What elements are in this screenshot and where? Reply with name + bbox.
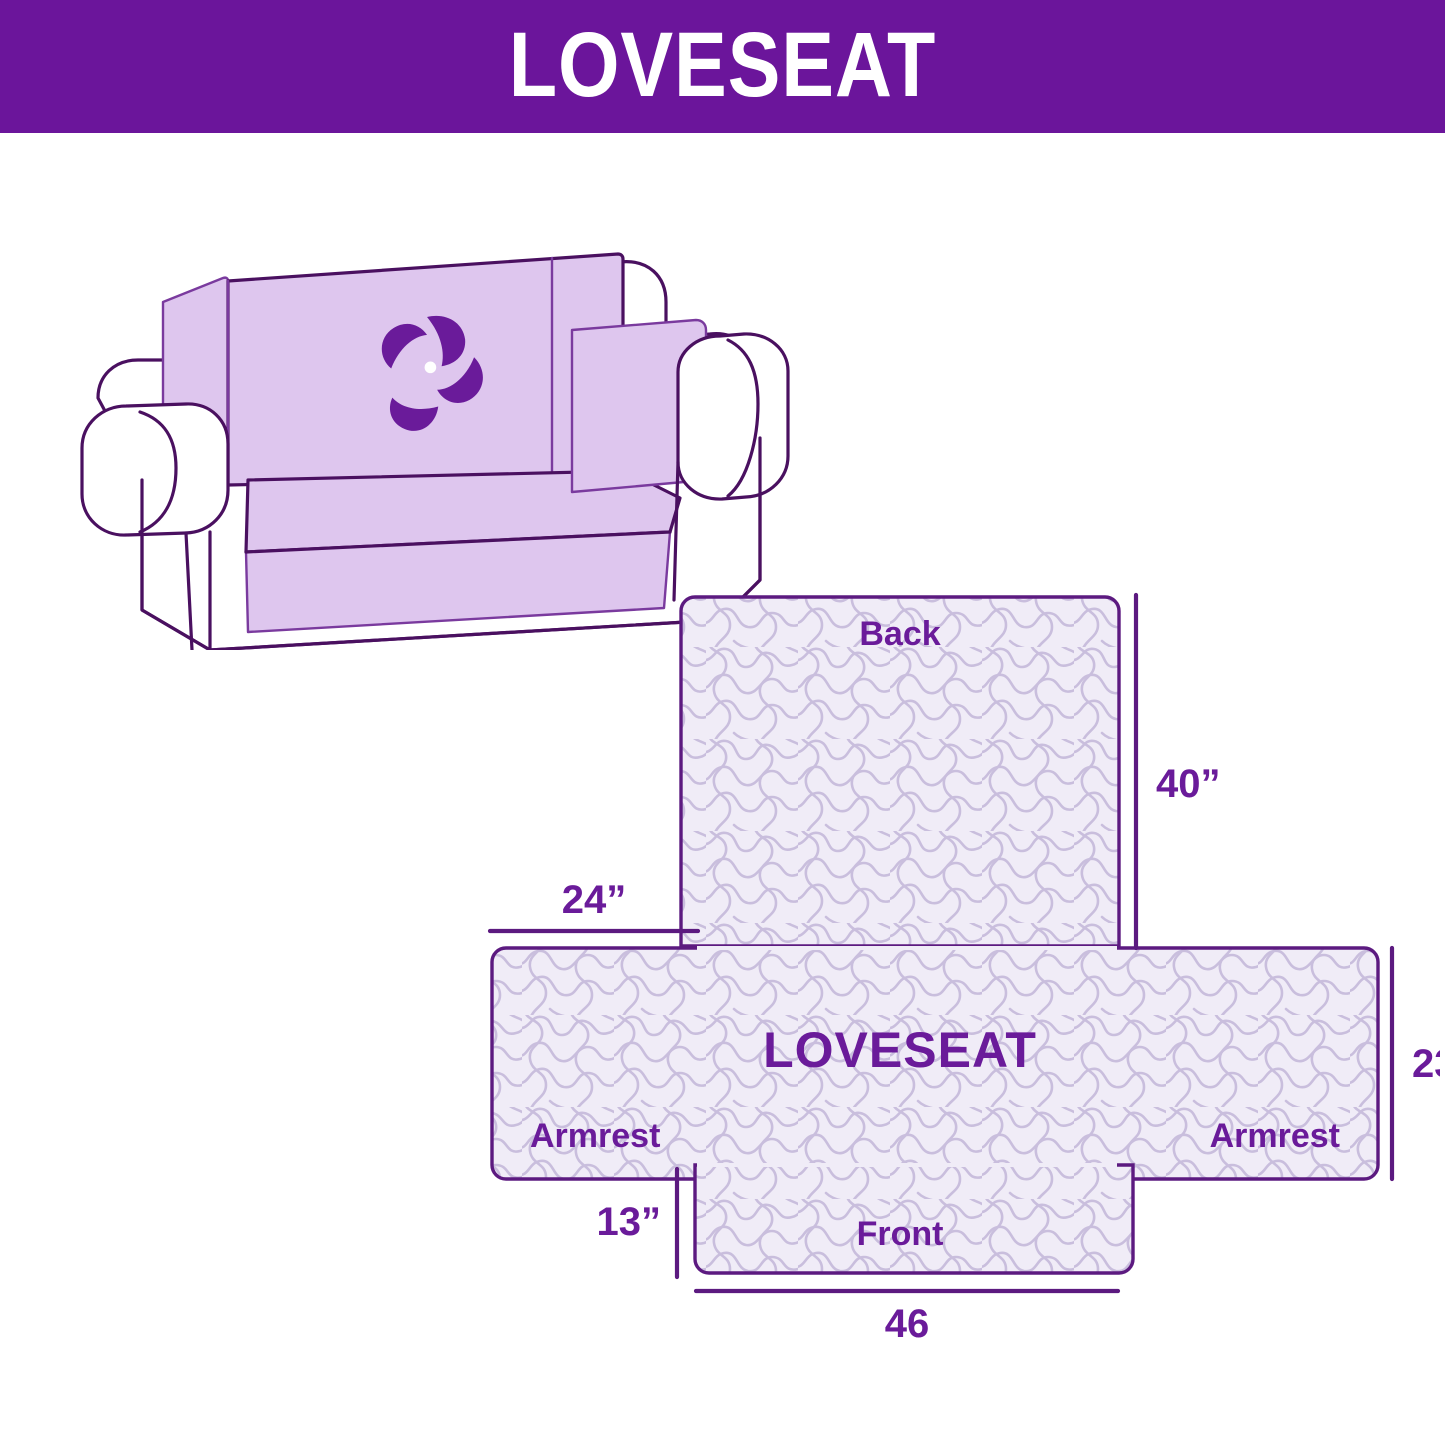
page-title: LOVESEAT [509,19,936,111]
dimension-armrest-height: 23” [1392,948,1440,1179]
dimension-front-height-label: 13” [597,1200,662,1244]
dimension-back-width-label: 24” [562,878,627,922]
product-diagram-page: LOVESEAT .ol{fill:none;stroke:#4A1060;st… [0,0,1445,1445]
cover-pattern-diagram: Back LOVESEAT Armrest Armrest Front 40” … [430,555,1440,1345]
dimension-front-width-label: 46 [885,1302,930,1345]
dimension-back-width: 24” [490,878,698,931]
panel-label-back: Back [859,615,940,653]
panel-label-center: LOVESEAT [763,1022,1037,1078]
dimension-front-width: 46 [696,1291,1118,1345]
dimension-armrest-height-label: 23” [1412,1042,1440,1086]
panel-label-front: Front [857,1215,944,1253]
dimension-back-height-label: 40” [1156,762,1221,806]
header-banner: LOVESEAT [0,0,1445,133]
panel-label-armrest-left: Armrest [530,1117,660,1155]
cover-shape [492,597,1378,1273]
dimension-front-height: 13” [597,1169,678,1277]
panel-label-armrest-right: Armrest [1210,1117,1340,1155]
dimension-back-height: 40” [1136,595,1221,948]
